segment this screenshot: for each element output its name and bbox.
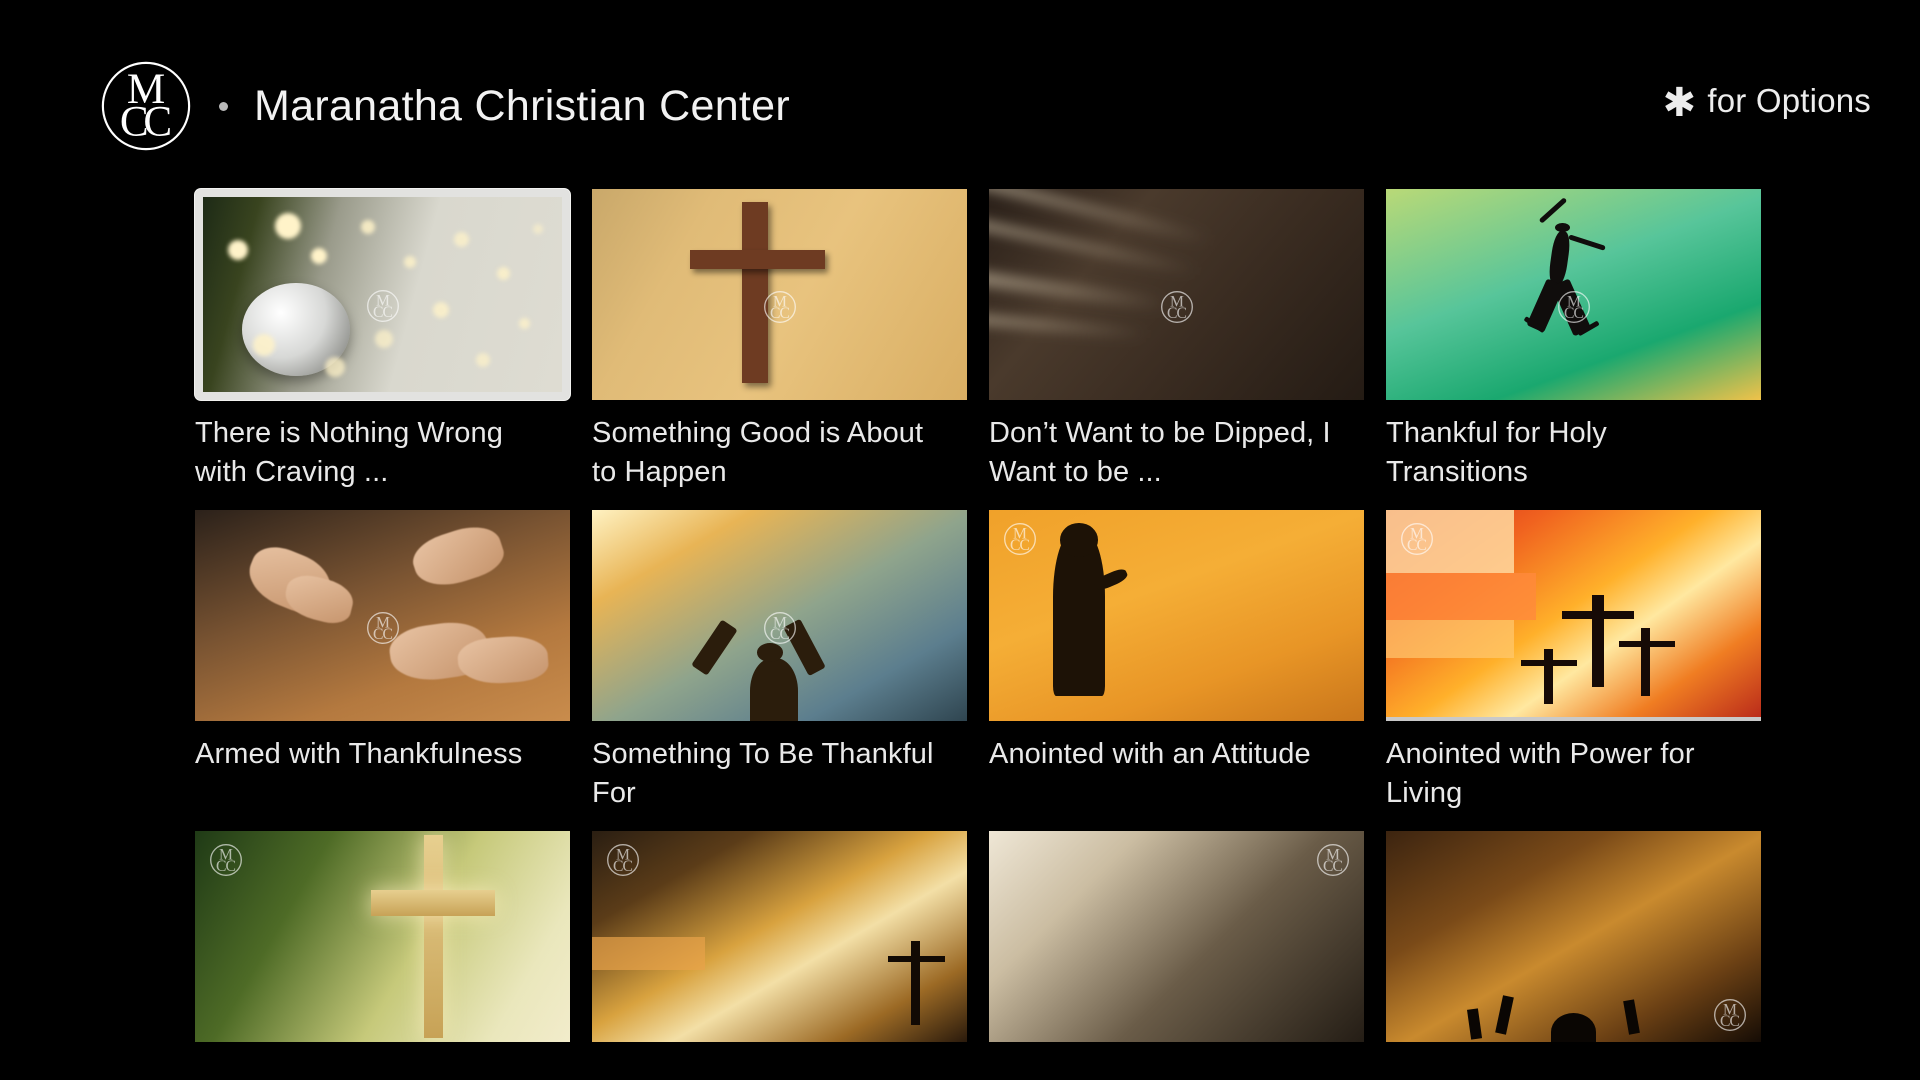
video-tile[interactable]: M C C Armed with Thankfulness [195,510,570,812]
thumbnail: M C C [592,189,967,400]
svg-text:C: C [143,98,172,145]
thumbnail: M C C [203,197,562,392]
thumbnail-frame[interactable]: M C C [592,831,967,1042]
thumbnail-art-light-rays-cross [989,189,1364,400]
options-hint[interactable]: ✱ for Options [1663,81,1871,121]
thumbnail: M C C [989,189,1364,400]
thumbnail-frame[interactable]: M C C [592,189,967,400]
thumbnail: M C C [195,831,570,1042]
video-grid: M C C There is Nothing Wrong with Cravin… [195,189,1815,1056]
thumbnail-frame[interactable]: M C C [989,189,1364,400]
thumbnail-art-open-hands-worship [989,831,1364,1042]
thumbnail-art-leaping-silhouette [1386,189,1761,400]
thumbnail-frame[interactable]: M C C [195,510,570,721]
thumbnail-frame[interactable]: M C C [989,831,1364,1042]
thumbnail-frame[interactable]: M C C [1386,510,1761,721]
thumbnail-art-cross-dramatic-clouds [592,831,967,1042]
thumbnail-frame[interactable]: M C C [592,510,967,721]
thumbnail-art-glowing-cross-greenery [195,831,570,1042]
video-tile[interactable]: M C C [592,831,967,1056]
thumbnail-frame-selected[interactable]: M C C [195,189,570,400]
video-tile[interactable]: M C C Thankful for Holy Transitions [1386,189,1761,491]
mcc-monogram-logo-icon: M C C [97,57,195,155]
thumbnail: M C C [989,510,1364,721]
video-title: Something To Be Thankful For [592,735,952,812]
page-title: Maranatha Christian Center [254,85,790,128]
thumbnail: M C C [1386,831,1761,1042]
thumbnail: M C C [592,510,967,721]
video-tile[interactable]: M C C Anointed with an Attitude [989,510,1364,812]
thumbnail-art-worship-concert-cross [1386,831,1761,1042]
thumbnail: M C C [1386,189,1761,400]
video-tile[interactable]: M C C There is Nothing Wrong with Cravin… [195,189,570,491]
video-title: Anointed with an Attitude [989,735,1349,774]
video-tile[interactable]: M C C Anointed with Power for Living [1386,510,1761,812]
video-title: Armed with Thankfulness [195,735,555,774]
thumbnail: M C C [592,831,967,1042]
brand-block: M C C Maranatha Christian Center [97,57,790,155]
thumbnail-frame[interactable]: M C C [989,510,1364,721]
video-title: Don’t Want to be Dipped, I Want to be ..… [989,414,1349,491]
video-title: Thankful for Holy Transitions [1386,414,1746,491]
asterisk-icon: ✱ [1663,83,1697,123]
video-title: There is Nothing Wrong with Craving ... [195,414,555,491]
thumbnail-art-christmas-ornament [203,197,562,392]
video-title: Something Good is About to Happen [592,414,952,491]
thumbnail-frame[interactable]: M C C [1386,831,1761,1042]
thumbnail: M C C [1386,510,1761,721]
video-title: Anointed with Power for Living [1386,735,1746,812]
thumbnail-frame[interactable]: M C C [1386,189,1761,400]
video-tile[interactable]: M C C Something To Be Thankful For [592,510,967,812]
thumbnail-art-cross-on-bible [592,189,967,400]
app-header: M C C Maranatha Christian Center ✱ for O… [0,0,1920,180]
thumbnail-art-praying-silhouette-sunset [989,510,1364,721]
video-tile[interactable]: M C C Something Good is About to Happen [592,189,967,491]
thumbnail-art-praying-hands-bible [195,510,570,721]
thumbnail-art-sunrise-raised-arms [592,510,967,721]
thumbnail: M C C [989,831,1364,1042]
options-label: for Options [1707,82,1871,120]
video-tile[interactable]: M C C [1386,831,1761,1056]
video-tile[interactable]: M C C Don’t Want to be Dipped, I Want to… [989,189,1364,491]
watch-progress-bar [1386,717,1761,721]
thumbnail-frame[interactable]: M C C [195,831,570,1042]
brand-separator-dot [219,102,228,111]
video-tile[interactable]: M C C [195,831,570,1056]
thumbnail-art-three-crosses-sunset [1386,510,1761,721]
thumbnail: M C C [195,510,570,721]
video-tile[interactable]: M C C [989,831,1364,1056]
